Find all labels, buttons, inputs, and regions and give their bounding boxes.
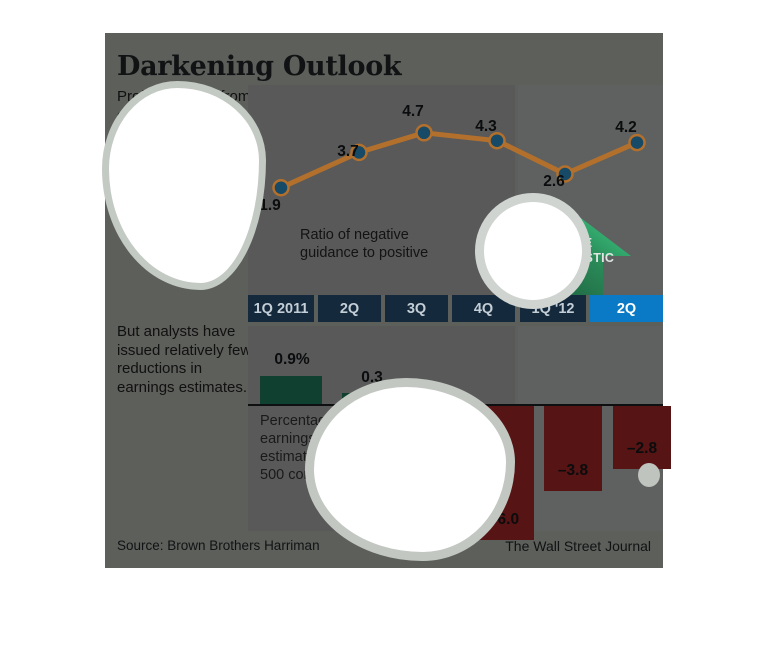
badge-label: MORE PESSIMISTIC bbox=[513, 236, 633, 265]
bar-chart: 0.9% 0.3 –2.8% –6.0 –3.8 –2.8 Percentage… bbox=[248, 326, 663, 531]
point-label: 4.3 bbox=[475, 118, 497, 136]
point-label: 3.7 bbox=[337, 143, 359, 161]
axis-tab-1q-12[interactable]: 1Q '12 bbox=[520, 295, 586, 322]
lead-paragraph: Profit warnings from companies on the S&… bbox=[117, 88, 252, 218]
point-label: 1.9 bbox=[259, 197, 281, 215]
axis-tab-label: 4Q bbox=[474, 301, 493, 317]
bar-1q2011 bbox=[260, 376, 322, 404]
page-title: Darkening Outlook bbox=[117, 51, 401, 82]
bar-value-label: –6.0 bbox=[489, 511, 519, 529]
bar-value-label: –2.8 bbox=[627, 440, 657, 458]
more-pessimistic-badge: MORE PESSIMISTIC bbox=[513, 210, 633, 295]
line-chart: 1.9 3.7 4.7 4.3 2.6 4.2 Ratio of negativ… bbox=[248, 85, 663, 295]
axis-tab-1q-2011[interactable]: 1Q 2011 bbox=[248, 295, 314, 322]
line-data-point bbox=[417, 125, 432, 140]
line-chart-caption: Ratio of negative guidance to positive bbox=[300, 226, 460, 262]
source-credit: Source: Brown Brothers Harriman bbox=[117, 538, 320, 553]
zero-axis-line bbox=[248, 404, 663, 406]
axis-tab-label: 1Q 2011 bbox=[254, 301, 309, 317]
bar-value-label: –3.8 bbox=[558, 462, 588, 480]
bar-2q2012 bbox=[613, 406, 671, 469]
axis-tab-label: 1Q '12 bbox=[532, 301, 575, 317]
point-label: 4.2 bbox=[615, 119, 637, 137]
point-label: 2.6 bbox=[543, 173, 565, 191]
footer: Source: Brown Brothers Harriman The Wall… bbox=[117, 538, 651, 556]
axis-tab-2q[interactable]: 2Q bbox=[318, 295, 381, 322]
bar-2q2011 bbox=[342, 393, 402, 404]
ratio-line-series bbox=[281, 133, 637, 188]
axis-tab-3q[interactable]: 3Q bbox=[385, 295, 448, 322]
point-label: 4.7 bbox=[402, 103, 424, 121]
bar-chart-caption: Percentage drop in earnings-per-share es… bbox=[260, 412, 392, 484]
bar-3q2011 bbox=[408, 406, 466, 469]
axis-tab-label: 3Q bbox=[407, 301, 426, 317]
axis-tab-2q[interactable]: 2Q bbox=[590, 295, 663, 322]
infographic-canvas: Darkening Outlook Profit warnings from c… bbox=[105, 33, 663, 568]
bar-value-label: 0.9% bbox=[274, 351, 309, 369]
line-data-point bbox=[630, 135, 645, 150]
axis-tab-label: 2Q bbox=[340, 301, 359, 317]
axis-tab-label: 2Q bbox=[617, 301, 636, 317]
publication-name: The Wall Street Journal bbox=[505, 538, 651, 554]
bar-value-label: 0.3 bbox=[361, 369, 383, 387]
second-paragraph: But analysts have issued relatively few … bbox=[117, 323, 252, 397]
quarter-axis-tabs: 1Q 20112Q3Q4Q1Q '122Q bbox=[248, 295, 663, 322]
line-data-point bbox=[274, 180, 289, 195]
axis-tab-4q[interactable]: 4Q bbox=[452, 295, 515, 322]
bar-value-label: –2.8% bbox=[416, 440, 460, 458]
